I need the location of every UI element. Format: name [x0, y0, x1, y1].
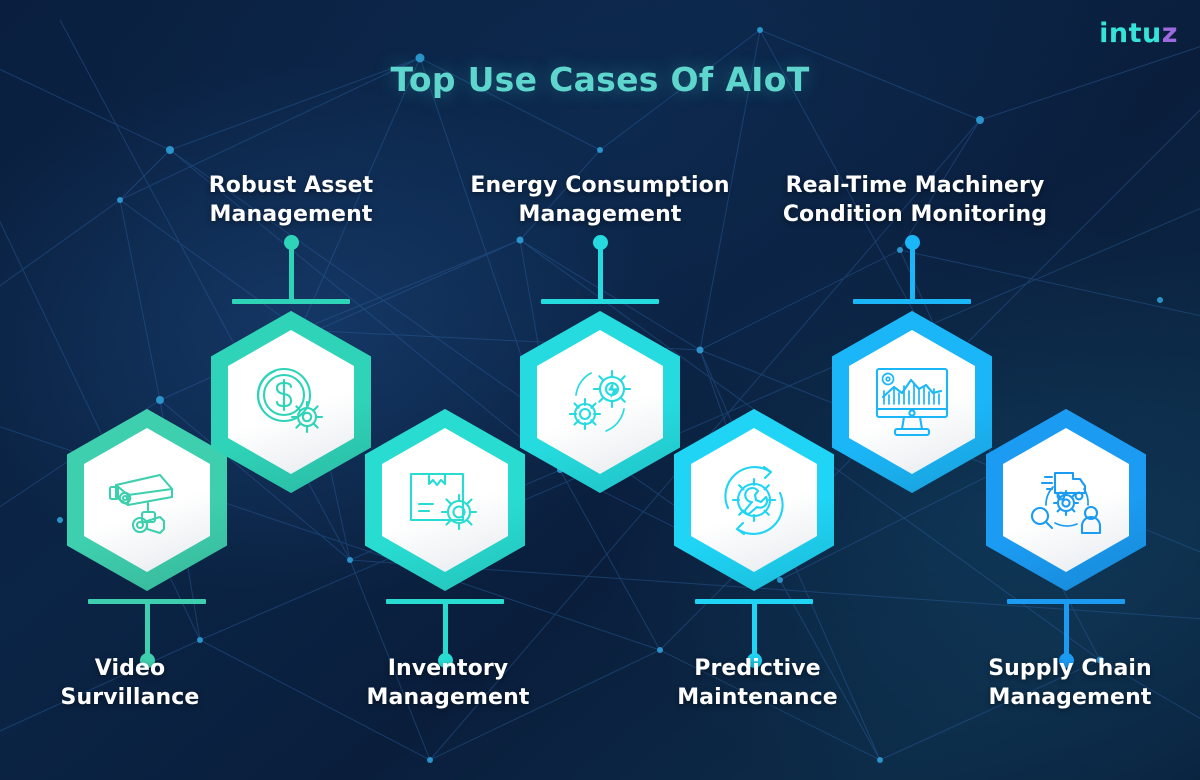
connector-dot	[284, 235, 299, 250]
node-label-real-time-machinery-condition-monitoring: Real-Time Machinery Condition Monitoring	[765, 171, 1065, 229]
hex-badge-predictive-maintenance[interactable]	[674, 409, 834, 591]
package-gear-icon	[382, 428, 508, 572]
hex-badge-robust-asset-management[interactable]	[211, 311, 371, 493]
brand-name-accent: z	[1162, 18, 1178, 49]
gear-wrench-cycle-icon	[691, 428, 817, 572]
brand-name-primary: intu	[1099, 18, 1162, 49]
infographic-canvas: intuz Top Use Cases Of AIoT Video Survil…	[0, 0, 1200, 780]
connector-dot	[593, 235, 608, 250]
hex-badge-supply-chain-management[interactable]	[986, 409, 1146, 591]
dollar-coin-gear-icon	[228, 330, 354, 474]
monitor-chart-icon	[849, 330, 975, 474]
connector-dot	[905, 235, 920, 250]
gears-energy-icon	[537, 330, 663, 474]
node-label-robust-asset-management: Robust Asset Management	[176, 171, 406, 229]
hex-badge-energy-consumption-management[interactable]	[520, 311, 680, 493]
node-label-inventory-management: Inventory Management	[333, 654, 563, 712]
node-label-video-surveillance: Video Survillance	[20, 654, 240, 712]
hex-badge-inventory-management[interactable]	[365, 409, 525, 591]
page-title: Top Use Cases Of AIoT	[0, 60, 1200, 99]
connector-stem	[289, 243, 294, 301]
connector-stem	[1064, 601, 1069, 657]
hex-badge-video-surveillance[interactable]	[67, 409, 227, 591]
supply-chain-icon	[1003, 428, 1129, 572]
hex-badge-real-time-machinery-condition-monitoring[interactable]	[832, 311, 992, 493]
connector-stem	[443, 601, 448, 657]
connector-stem	[598, 243, 603, 301]
node-label-energy-consumption-management: Energy Consumption Management	[450, 171, 750, 229]
connector-stem	[145, 601, 150, 657]
node-label-supply-chain-management: Supply Chain Management	[955, 654, 1185, 712]
cctv-camera-icon	[84, 428, 210, 572]
connector-stem	[910, 243, 915, 301]
connector-stem	[752, 601, 757, 657]
brand-logo: intuz	[1099, 20, 1178, 47]
node-label-predictive-maintenance: Predictive Maintenance	[640, 654, 875, 712]
